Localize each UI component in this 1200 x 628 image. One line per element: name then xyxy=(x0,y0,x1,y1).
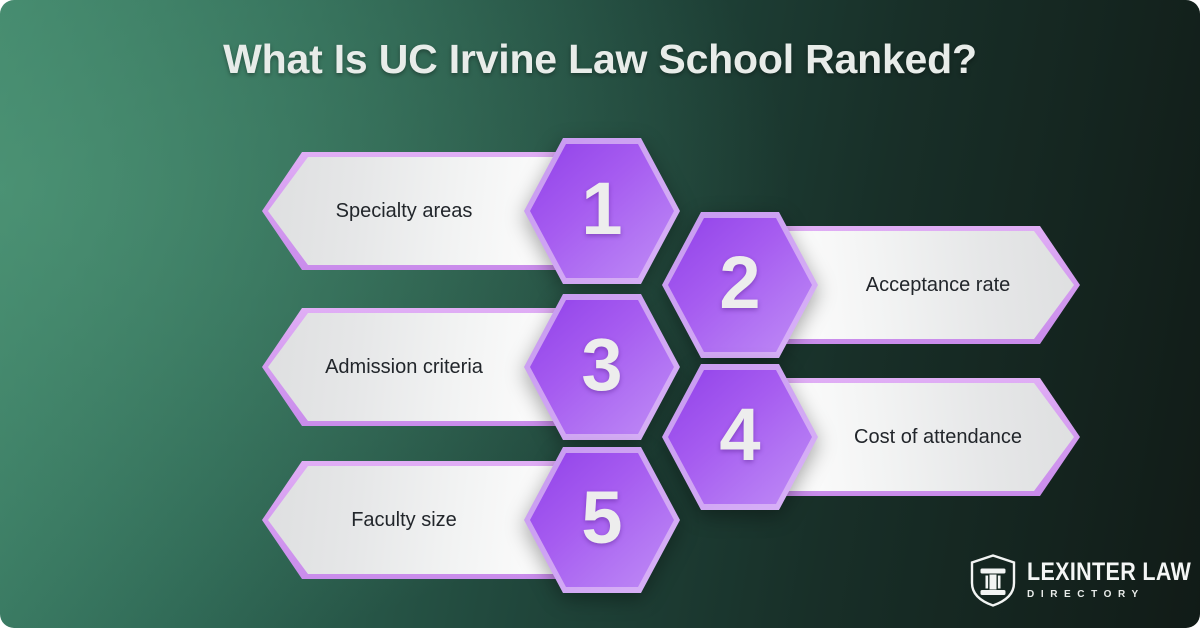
item-label: Admission criteria xyxy=(262,357,572,377)
list-item[interactable]: Specialty areas 1 xyxy=(262,138,680,284)
logo-subtitle: DIRECTORY xyxy=(1027,590,1200,600)
list-item[interactable]: Acceptance rate 2 xyxy=(662,212,1080,358)
brand-logo[interactable]: LEXINTER LAW DIRECTORY xyxy=(968,553,1200,607)
item-label: Cost of attendance xyxy=(770,427,1080,447)
item-label: Specialty areas xyxy=(262,201,572,221)
list-item[interactable]: Faculty size 5 xyxy=(262,447,680,593)
logo-text: LEXINTER LAW DIRECTORY xyxy=(1027,560,1200,600)
infographic-canvas: What Is UC Irvine Law School Ranked? Spe… xyxy=(0,0,1200,628)
item-label: Acceptance rate xyxy=(770,275,1080,295)
page-title: What Is UC Irvine Law School Ranked? xyxy=(0,36,1200,83)
logo-name: LEXINTER LAW xyxy=(1027,560,1191,585)
list-item[interactable]: Cost of attendance 4 xyxy=(662,364,1080,510)
list-item[interactable]: Admission criteria 3 xyxy=(262,294,680,440)
item-label: Faculty size xyxy=(262,510,572,530)
shield-column-icon xyxy=(968,553,1018,607)
